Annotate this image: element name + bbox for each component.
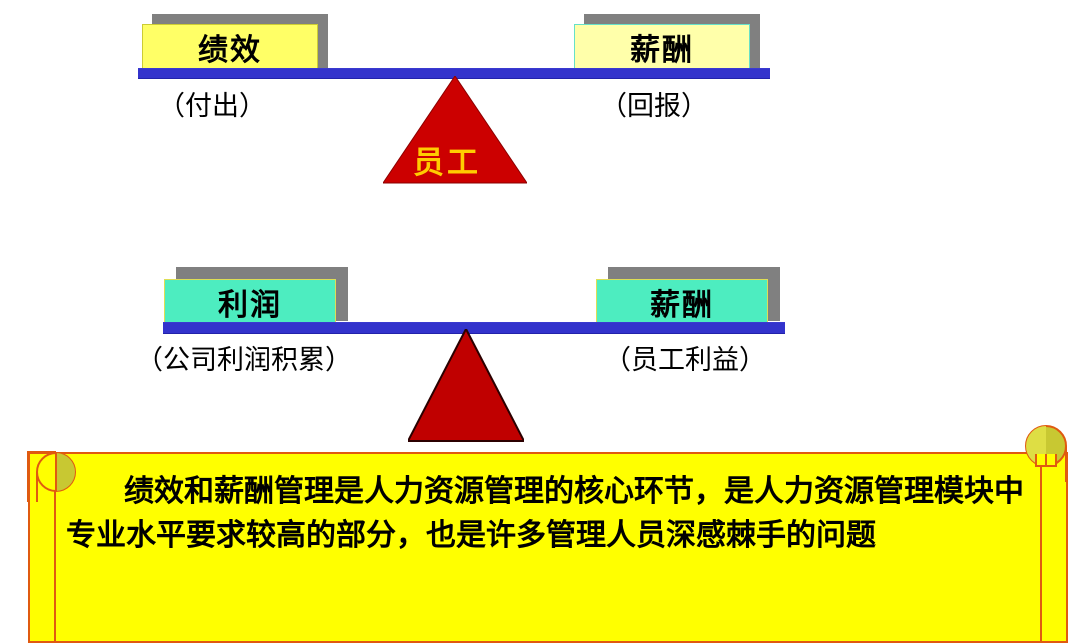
- slide-canvas: 绩效 薪酬 （付出） （回报） 员工 利润 薪酬 （公司利润积累） （员工利益）: [0, 0, 1076, 643]
- caption-company-profit: （公司利润积累）: [136, 338, 352, 377]
- caption-payout: （付出）: [158, 84, 266, 123]
- caption-employee-benefit: （员工利益）: [604, 338, 766, 377]
- pan-box-performance[interactable]: 绩效: [142, 24, 318, 70]
- callout-paragraph: 绩效和薪酬管理是人力资源管理的核心环节，是人力资源管理模块中专业水平要求较高的部…: [66, 470, 1034, 558]
- fulcrum-label-employee: 员工: [413, 137, 481, 182]
- caption-reward: （回报）: [600, 84, 708, 123]
- pan-box-compensation-1[interactable]: 薪酬: [574, 24, 750, 70]
- fulcrum-triangle-2: [408, 329, 524, 442]
- pan-box-profit[interactable]: 利润: [164, 279, 336, 324]
- pan-box-compensation-2[interactable]: 薪酬: [596, 279, 768, 324]
